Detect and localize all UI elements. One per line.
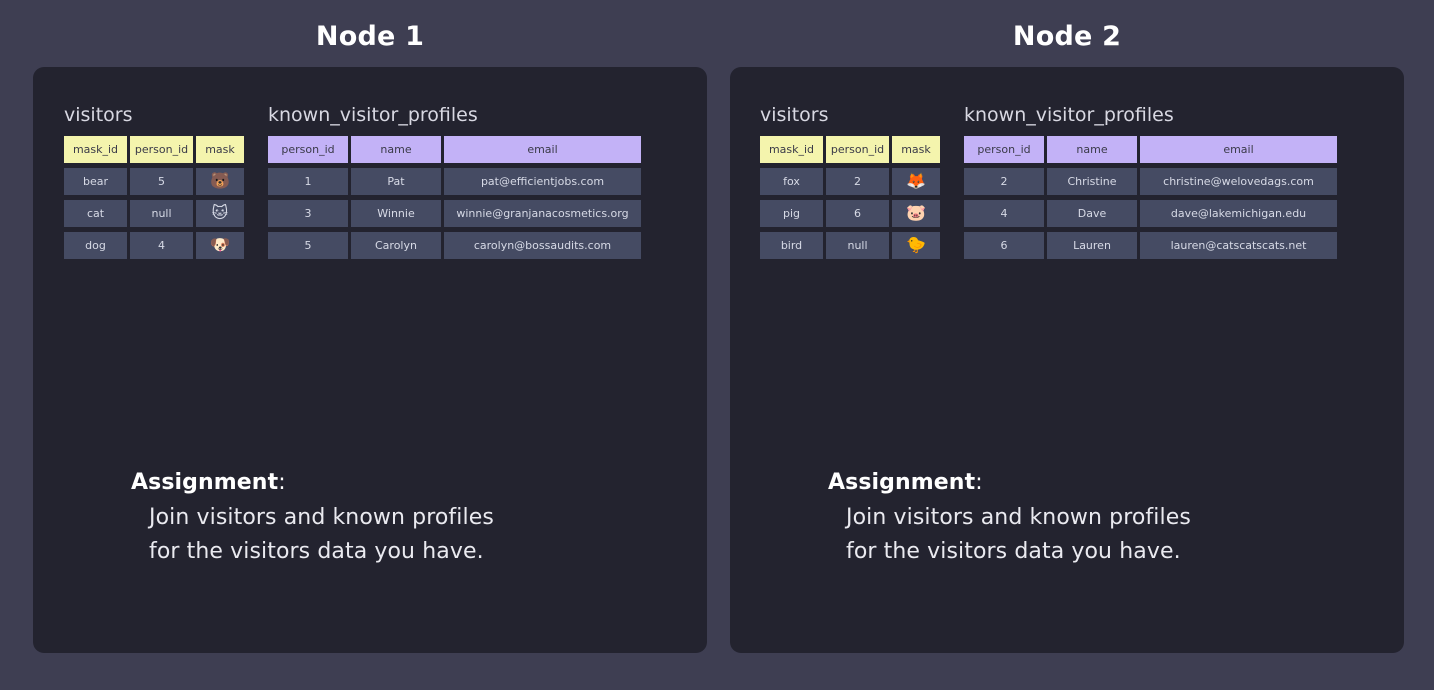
node-1-column: Node 1 visitors mask_id person_id mask	[33, 0, 707, 653]
node-2-visitors-block: visitors mask_id person_id mask fox	[760, 106, 940, 259]
node-2-visitors-table: mask_id person_id mask fox 2 🦊	[757, 131, 943, 264]
cell-mask-emoji: 🐤	[892, 232, 940, 259]
column-header-person-id: person_id	[826, 136, 889, 163]
assignment-heading-text: Assignment	[131, 470, 278, 495]
node-1-profiles-table: person_id name email 1 Pat pat@efficient…	[265, 131, 644, 264]
table-header-row: mask_id person_id mask	[760, 136, 940, 163]
cell-person-id: 6	[964, 232, 1044, 259]
cell-person-id: null	[826, 232, 889, 259]
assignment-line-2: for the visitors data you have.	[149, 535, 494, 569]
cell-name: Lauren	[1047, 232, 1137, 259]
cell-name: Pat	[351, 168, 441, 195]
assignment-heading: Assignment:	[131, 471, 494, 495]
table-row: dog 4 🐶	[64, 232, 244, 259]
node-1-profiles-label: known_visitor_profiles	[268, 106, 641, 125]
cell-name: Christine	[1047, 168, 1137, 195]
cell-mask-id: bird	[760, 232, 823, 259]
table-row: bird null 🐤	[760, 232, 940, 259]
cell-name: Carolyn	[351, 232, 441, 259]
column-header-person-id: person_id	[130, 136, 193, 163]
assignment-line-2: for the visitors data you have.	[846, 535, 1191, 569]
cell-name: Dave	[1047, 200, 1137, 227]
node-2-title: Node 2	[730, 0, 1404, 67]
node-2-profiles-block: known_visitor_profiles person_id name em…	[964, 106, 1337, 259]
cell-mask-emoji: 🐱	[196, 200, 244, 227]
cell-email: lauren@catscatscats.net	[1140, 232, 1337, 259]
cell-mask-emoji: 🦊	[892, 168, 940, 195]
node-2-profiles-table: person_id name email 2 Christine christi…	[961, 131, 1340, 264]
cell-person-id: 2	[964, 168, 1044, 195]
cell-email: dave@lakemichigan.edu	[1140, 200, 1337, 227]
table-row: 5 Carolyn carolyn@bossaudits.com	[268, 232, 641, 259]
node-2-profiles-label: known_visitor_profiles	[964, 106, 1337, 125]
node-1-visitors-label: visitors	[64, 106, 244, 125]
cell-mask-emoji: 🐶	[196, 232, 244, 259]
table-row: bear 5 🐻	[64, 168, 244, 195]
assignment-body: Join visitors and known profiles for the…	[131, 501, 494, 569]
assignment-heading-colon: :	[975, 470, 983, 495]
node-2-visitors-label: visitors	[760, 106, 940, 125]
node-2-column: Node 2 visitors mask_id person_id mask	[730, 0, 1404, 653]
cell-email: carolyn@bossaudits.com	[444, 232, 641, 259]
table-row: 6 Lauren lauren@catscatscats.net	[964, 232, 1337, 259]
node-2-assignment: Assignment: Join visitors and known prof…	[828, 471, 1191, 569]
node-1-visitors-block: visitors mask_id person_id mask bear	[64, 106, 244, 259]
node-1-visitors-table: mask_id person_id mask bear 5 🐻	[61, 131, 247, 264]
cell-mask-emoji: 🐷	[892, 200, 940, 227]
table-row: 3 Winnie winnie@granjanacosmetics.org	[268, 200, 641, 227]
table-row: 2 Christine christine@welovedags.com	[964, 168, 1337, 195]
cell-email: pat@efficientjobs.com	[444, 168, 641, 195]
table-header-row: mask_id person_id mask	[64, 136, 244, 163]
cell-mask-id: cat	[64, 200, 127, 227]
column-header-mask-id: mask_id	[64, 136, 127, 163]
node-1-panel: visitors mask_id person_id mask bear	[33, 67, 707, 653]
cell-person-id: 6	[826, 200, 889, 227]
cell-mask-id: bear	[64, 168, 127, 195]
column-header-person-id: person_id	[964, 136, 1044, 163]
table-row: pig 6 🐷	[760, 200, 940, 227]
assignment-heading-text: Assignment	[828, 470, 975, 495]
cell-name: Winnie	[351, 200, 441, 227]
table-row: 1 Pat pat@efficientjobs.com	[268, 168, 641, 195]
table-row: 4 Dave dave@lakemichigan.edu	[964, 200, 1337, 227]
assignment-line-1: Join visitors and known profiles	[149, 501, 494, 535]
cell-person-id: 5	[268, 232, 348, 259]
column-header-mask: mask	[892, 136, 940, 163]
table-header-row: person_id name email	[268, 136, 641, 163]
column-header-email: email	[444, 136, 641, 163]
diagram-stage: Node 1 visitors mask_id person_id mask	[0, 0, 1434, 690]
assignment-heading: Assignment:	[828, 471, 1191, 495]
column-header-mask: mask	[196, 136, 244, 163]
cell-email: christine@welovedags.com	[1140, 168, 1337, 195]
cell-person-id: 1	[268, 168, 348, 195]
assignment-body: Join visitors and known profiles for the…	[828, 501, 1191, 569]
assignment-heading-colon: :	[278, 470, 286, 495]
column-header-name: name	[351, 136, 441, 163]
cell-person-id: 3	[268, 200, 348, 227]
node-1-title: Node 1	[33, 0, 707, 67]
cell-mask-id: pig	[760, 200, 823, 227]
node-2-tables: visitors mask_id person_id mask fox	[730, 67, 1337, 259]
node-2-panel: visitors mask_id person_id mask fox	[730, 67, 1404, 653]
cell-person-id: 5	[130, 168, 193, 195]
cell-mask-emoji: 🐻	[196, 168, 244, 195]
table-row: fox 2 🦊	[760, 168, 940, 195]
cell-person-id: null	[130, 200, 193, 227]
cell-mask-id: fox	[760, 168, 823, 195]
node-1-assignment: Assignment: Join visitors and known prof…	[131, 471, 494, 569]
column-header-email: email	[1140, 136, 1337, 163]
assignment-line-1: Join visitors and known profiles	[846, 501, 1191, 535]
node-1-tables: visitors mask_id person_id mask bear	[33, 67, 641, 259]
cell-person-id: 2	[826, 168, 889, 195]
column-header-mask-id: mask_id	[760, 136, 823, 163]
cell-email: winnie@granjanacosmetics.org	[444, 200, 641, 227]
node-1-profiles-block: known_visitor_profiles person_id name em…	[268, 106, 641, 259]
column-header-person-id: person_id	[268, 136, 348, 163]
cell-person-id: 4	[130, 232, 193, 259]
table-header-row: person_id name email	[964, 136, 1337, 163]
cell-mask-id: dog	[64, 232, 127, 259]
column-header-name: name	[1047, 136, 1137, 163]
cell-person-id: 4	[964, 200, 1044, 227]
table-row: cat null 🐱	[64, 200, 244, 227]
